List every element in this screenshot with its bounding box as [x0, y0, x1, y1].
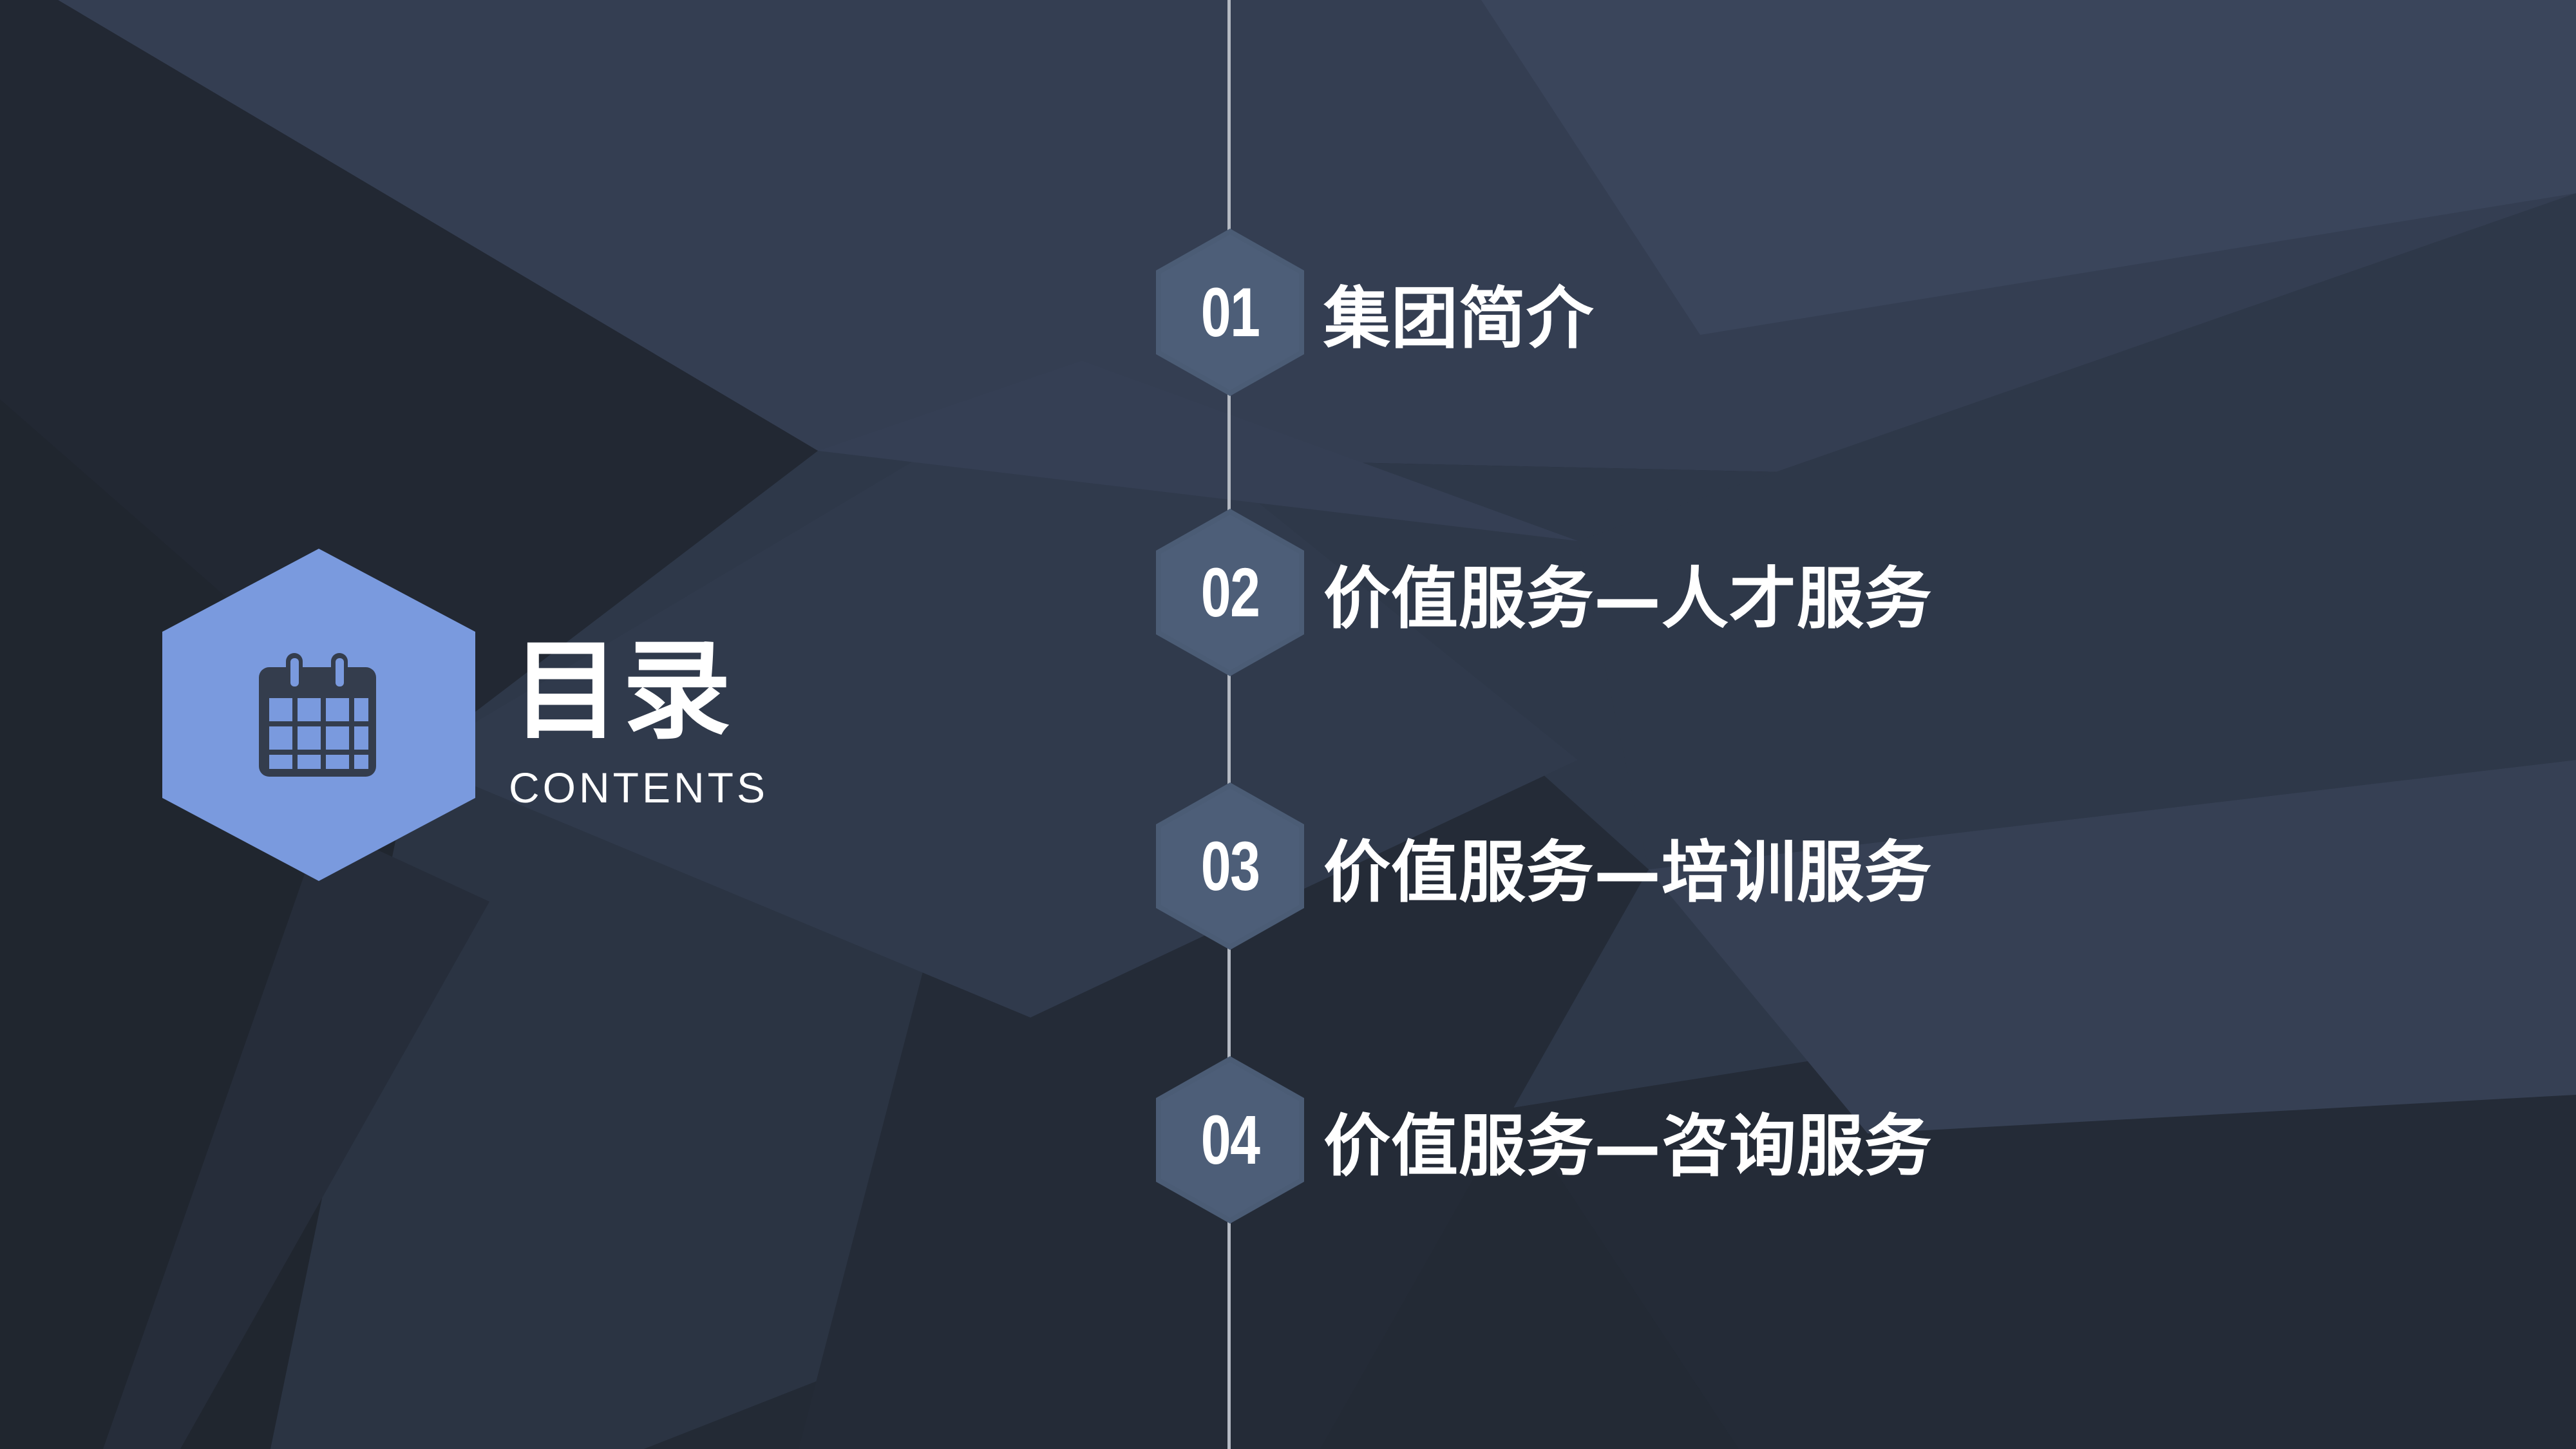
hexagon-badge-02: 02: [1156, 509, 1304, 676]
hexagon-badge-04: 04: [1156, 1056, 1304, 1224]
toc-label-04[interactable]: 价值服务—咨询服务: [1323, 1092, 1932, 1189]
toc-item-04[interactable]: 04 价值服务—咨询服务: [1156, 1056, 1304, 1224]
timeline-spine: [1227, 0, 1231, 1449]
toc-item-01[interactable]: 01 集团简介: [1156, 229, 1304, 396]
toc-number-02: 02: [1201, 558, 1260, 627]
toc-label-01[interactable]: 集团简介: [1323, 264, 1594, 361]
toc-number-01: 01: [1201, 278, 1260, 347]
toc-label-03[interactable]: 价值服务—培训服务: [1323, 818, 1932, 915]
calendar-icon: [255, 650, 384, 779]
hexagon-badge-01: 01: [1156, 229, 1304, 396]
hexagon-badge-03: 03: [1156, 782, 1304, 950]
toc-item-03[interactable]: 03 价值服务—培训服务: [1156, 782, 1304, 950]
toc-label-02[interactable]: 价值服务—人才服务: [1323, 544, 1932, 641]
toc-number-03: 03: [1201, 831, 1260, 901]
slide-canvas: 目录 CONTENTS 01 集团简介 02 价值服务—人才服务 03 价值服务…: [0, 0, 2576, 1449]
contents-title: 目录: [512, 634, 734, 748]
contents-subtitle: CONTENTS: [509, 763, 768, 812]
toc-item-02[interactable]: 02 价值服务—人才服务: [1156, 509, 1304, 676]
toc-number-04: 04: [1201, 1105, 1260, 1175]
